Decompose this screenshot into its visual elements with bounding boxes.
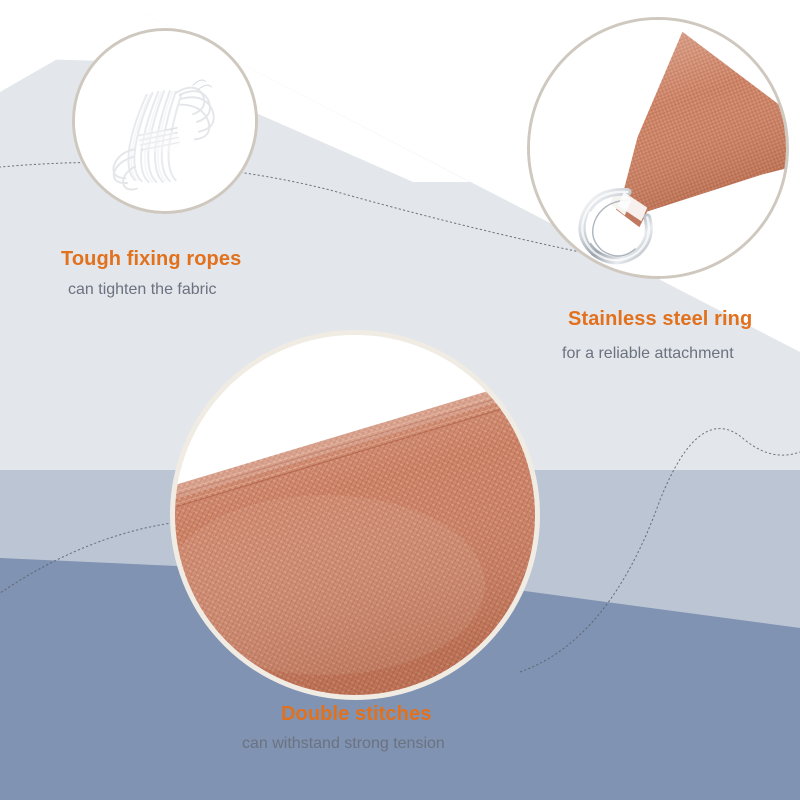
- feature-title-ring: Stainless steel ring: [568, 308, 752, 331]
- feature-subtitle-stitches: can withstand strong tension: [242, 735, 445, 753]
- infographic-canvas: Tough fixing ropes can tighten the fabri…: [0, 0, 800, 800]
- feature-title-ropes: Tough fixing ropes: [61, 248, 241, 271]
- feature-subtitle-ring: for a reliable attachment: [562, 345, 734, 363]
- feature-circle-stitches: [170, 330, 540, 700]
- feature-title-stitches: Double stitches: [281, 703, 431, 726]
- feature-circle-ropes: [72, 28, 258, 214]
- stitches-photo: [175, 335, 535, 695]
- feature-subtitle-ropes: can tighten the fabric: [68, 281, 217, 299]
- rope-photo: [75, 31, 255, 211]
- ring-photo: [530, 20, 786, 276]
- feature-circle-ring: [527, 17, 789, 279]
